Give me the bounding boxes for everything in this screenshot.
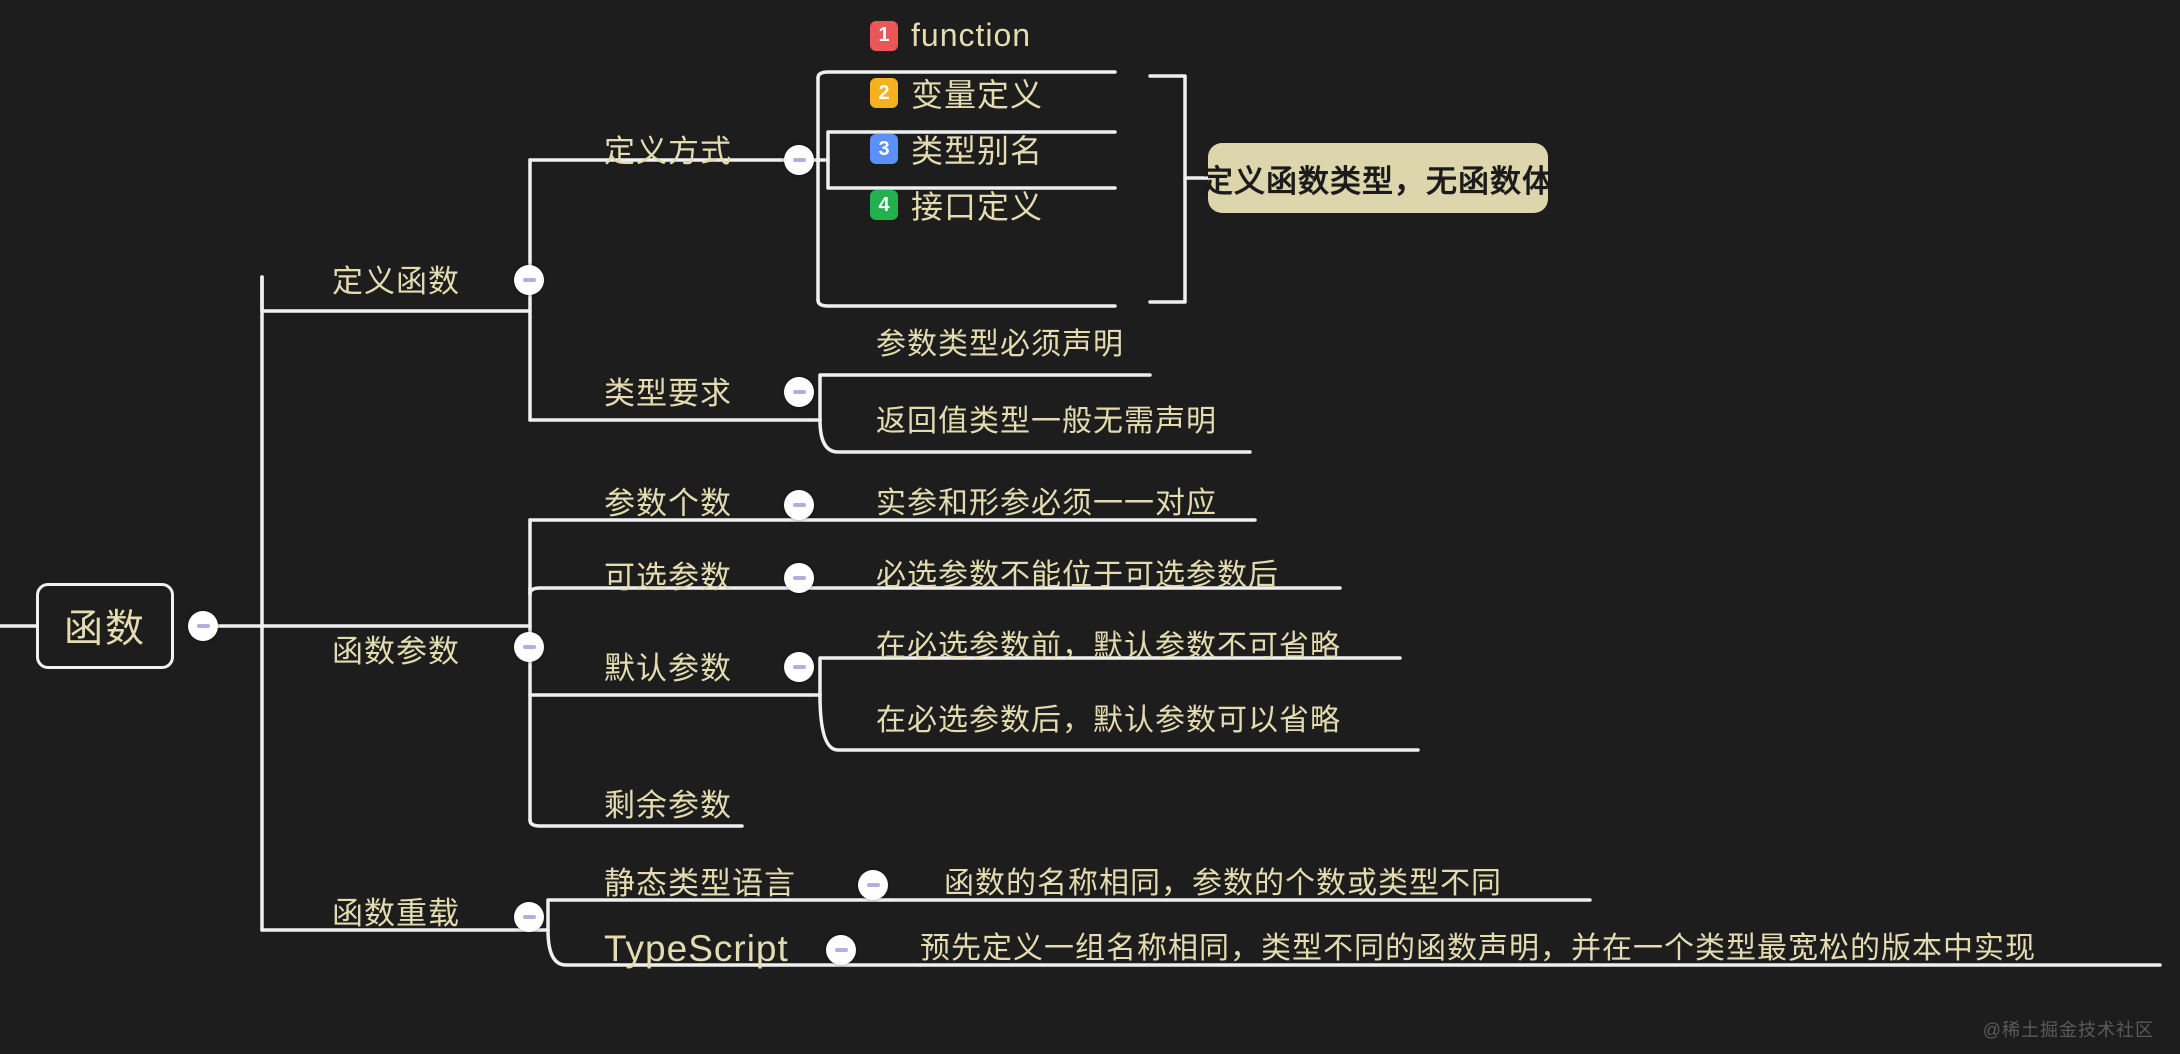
- minus-icon: [793, 390, 806, 394]
- minus-icon: [793, 503, 806, 507]
- toggle-type-requirement[interactable]: [784, 377, 814, 407]
- leaf-default-after[interactable]: 在必选参数后，默认参数可以省略: [876, 706, 1341, 736]
- badge-number: 4: [870, 190, 898, 220]
- toggle-optional-param[interactable]: [784, 563, 814, 593]
- node-function-params[interactable]: 函数参数: [332, 636, 460, 667]
- list-item-label: function: [911, 17, 1031, 54]
- node-definition-style[interactable]: 定义方式: [604, 136, 732, 167]
- leaf-overload-rule[interactable]: 函数的名称相同，参数的个数或类型不同: [944, 869, 1502, 899]
- list-item[interactable]: 1 function: [870, 17, 1031, 54]
- leaf-param-type-required[interactable]: 参数类型必须声明: [876, 330, 1124, 360]
- leaf-typescript-overload-desc[interactable]: 预先定义一组名称相同，类型不同的函数声明，并在一个类型最宽松的版本中实现: [920, 934, 2036, 964]
- list-item-label: 类型别名: [911, 126, 1043, 172]
- badge-number: 1: [870, 21, 898, 51]
- minus-icon: [523, 915, 536, 919]
- toggle-param-count[interactable]: [784, 490, 814, 520]
- minus-icon: [197, 624, 210, 628]
- minus-icon: [523, 278, 536, 282]
- toggle-typescript[interactable]: [826, 935, 856, 965]
- minus-icon: [835, 948, 848, 952]
- minus-icon: [793, 665, 806, 669]
- leaf-return-type-optional[interactable]: 返回值类型一般无需声明: [876, 407, 1217, 437]
- node-default-param[interactable]: 默认参数: [604, 653, 732, 684]
- node-static-typed-language[interactable]: 静态类型语言: [604, 868, 796, 899]
- toggle-root[interactable]: [188, 611, 218, 641]
- mindmap-canvas: 函数 定义函数 定义方式 1 function 2 变量定义 3 类型别名 4 …: [0, 0, 2180, 1054]
- node-typescript[interactable]: TypeScript: [604, 930, 789, 967]
- node-param-count[interactable]: 参数个数: [604, 488, 732, 519]
- root-label: 函数: [64, 598, 146, 654]
- node-function-overload[interactable]: 函数重载: [332, 898, 460, 929]
- toggle-default-param[interactable]: [784, 652, 814, 682]
- leaf-param-count-desc[interactable]: 实参和形参必须一一对应: [876, 489, 1217, 519]
- toggle-define-function[interactable]: [514, 265, 544, 295]
- list-item-label: 变量定义: [911, 70, 1043, 116]
- node-type-requirement[interactable]: 类型要求: [604, 378, 732, 409]
- leaf-default-before[interactable]: 在必选参数前，默认参数不可省略: [876, 632, 1341, 662]
- node-rest-param[interactable]: 剩余参数: [604, 790, 732, 821]
- callout-text: 定义函数类型，无函数体: [1202, 156, 1554, 201]
- list-item[interactable]: 3 类型别名: [870, 126, 1043, 172]
- toggle-definition-style[interactable]: [784, 145, 814, 175]
- minus-icon: [867, 883, 880, 887]
- minus-icon: [793, 158, 806, 162]
- node-optional-param[interactable]: 可选参数: [604, 562, 732, 593]
- list-item[interactable]: 4 接口定义: [870, 182, 1043, 228]
- node-define-function[interactable]: 定义函数: [332, 266, 460, 297]
- badge-number: 2: [870, 78, 898, 108]
- badge-number: 3: [870, 134, 898, 164]
- toggle-function-overload[interactable]: [514, 902, 544, 932]
- leaf-optional-param-desc[interactable]: 必选参数不能位于可选参数后: [876, 561, 1279, 591]
- callout-box: 定义函数类型，无函数体: [1208, 143, 1548, 213]
- watermark: @稀土掘金技术社区: [1983, 1016, 2154, 1042]
- root-node[interactable]: 函数: [36, 583, 174, 669]
- minus-icon: [523, 645, 536, 649]
- list-item[interactable]: 2 变量定义: [870, 70, 1043, 116]
- toggle-function-params[interactable]: [514, 632, 544, 662]
- list-item-label: 接口定义: [911, 182, 1043, 228]
- minus-icon: [793, 576, 806, 580]
- toggle-static-typed-language[interactable]: [858, 870, 888, 900]
